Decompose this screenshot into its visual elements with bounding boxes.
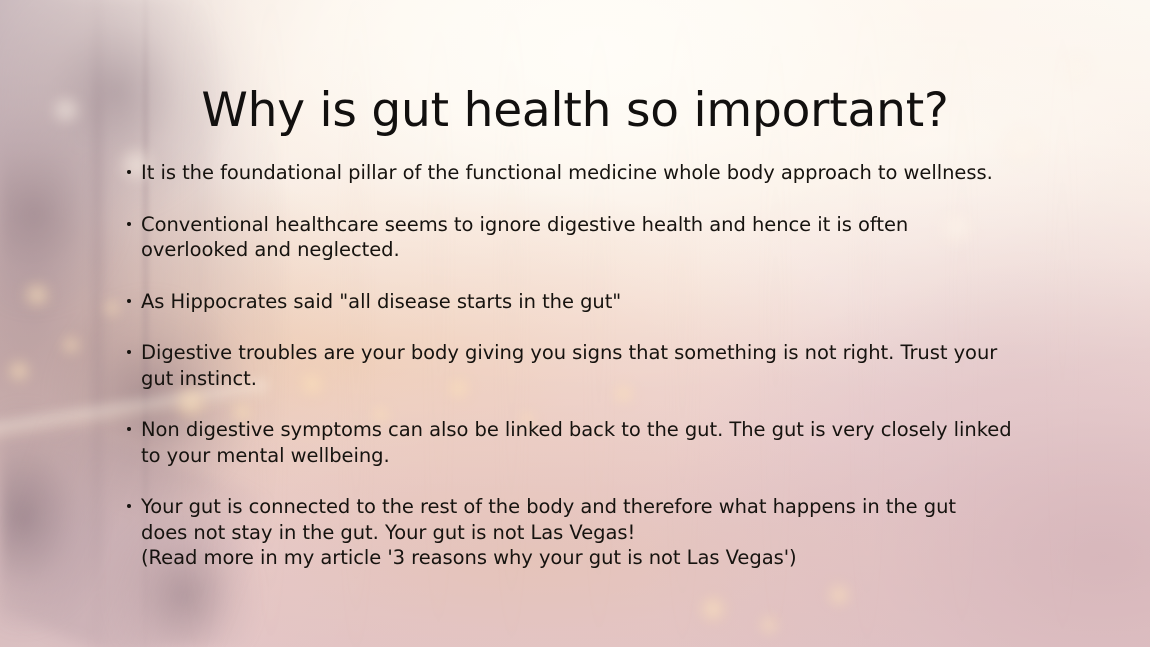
bullet-point-icon bbox=[127, 299, 131, 303]
bullet-point-icon bbox=[127, 222, 131, 226]
list-item: Digestive troubles are your body giving … bbox=[126, 340, 1036, 391]
bullet-point-icon bbox=[127, 504, 131, 508]
slide-content: Why is gut health so important? It is th… bbox=[0, 0, 1150, 647]
bullet-point-icon bbox=[127, 170, 131, 174]
bullet-line: As Hippocrates said "all disease starts … bbox=[141, 289, 1036, 315]
bullet-line: overlooked and neglected. bbox=[141, 237, 1036, 263]
bullet-line: to your mental wellbeing. bbox=[141, 443, 1036, 469]
bullet-line: does not stay in the gut. Your gut is no… bbox=[141, 520, 1036, 546]
list-item: As Hippocrates said "all disease starts … bbox=[126, 289, 1036, 315]
bullet-line: Digestive troubles are your body giving … bbox=[141, 340, 1036, 366]
list-item: Conventional healthcare seems to ignore … bbox=[126, 212, 1036, 263]
bullet-list: It is the foundational pillar of the fun… bbox=[126, 160, 1036, 571]
page-title: Why is gut health so important? bbox=[0, 86, 1150, 137]
bullet-line: gut instinct. bbox=[141, 366, 1036, 392]
bullet-point-icon bbox=[127, 427, 131, 431]
list-item: Your gut is connected to the rest of the… bbox=[126, 494, 1036, 571]
bullet-line: Your gut is connected to the rest of the… bbox=[141, 494, 1036, 520]
bullet-line: Non digestive symptoms can also be linke… bbox=[141, 417, 1036, 443]
list-item: Non digestive symptoms can also be linke… bbox=[126, 417, 1036, 468]
bullet-line: It is the foundational pillar of the fun… bbox=[141, 160, 1036, 186]
bullet-line: Conventional healthcare seems to ignore … bbox=[141, 212, 1036, 238]
list-item: It is the foundational pillar of the fun… bbox=[126, 160, 1036, 186]
bullet-point-icon bbox=[127, 350, 131, 354]
bullet-line: (Read more in my article '3 reasons why … bbox=[141, 545, 1036, 571]
presentation-slide: Why is gut health so important? It is th… bbox=[0, 0, 1150, 647]
